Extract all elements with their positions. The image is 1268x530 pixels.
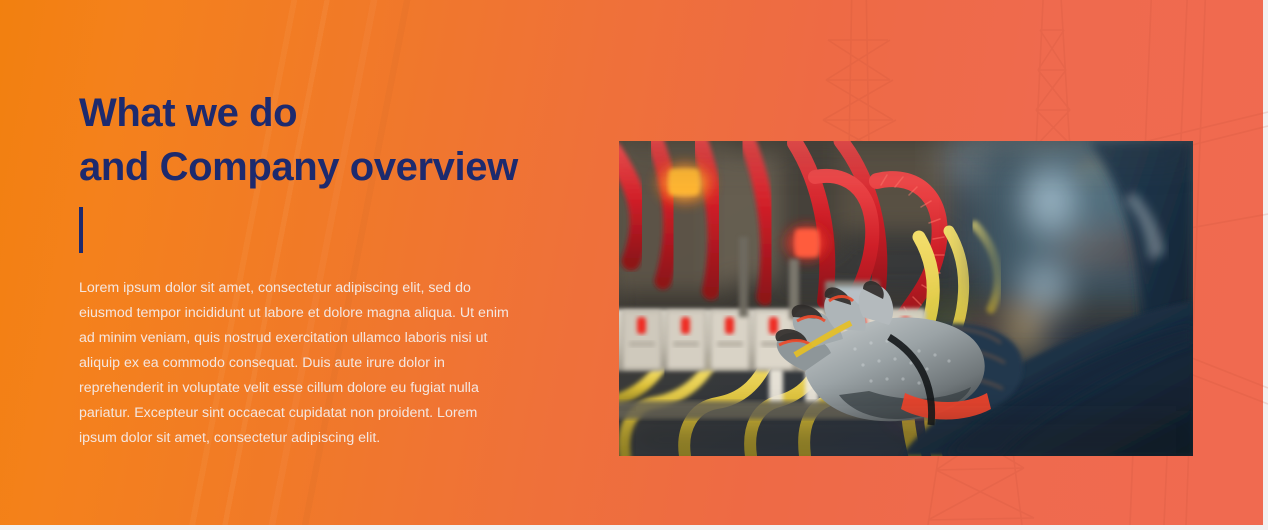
accent-bar	[79, 207, 83, 253]
body-paragraph: Lorem ipsum dolor sit amet, consectetur …	[79, 276, 515, 451]
electrician-panel-photo	[619, 141, 1193, 456]
slide-canvas: What we do and Company overview Lorem ip…	[0, 0, 1268, 530]
headline-block: What we do and Company overview	[79, 86, 549, 194]
page-title: What we do and Company overview	[79, 86, 549, 194]
